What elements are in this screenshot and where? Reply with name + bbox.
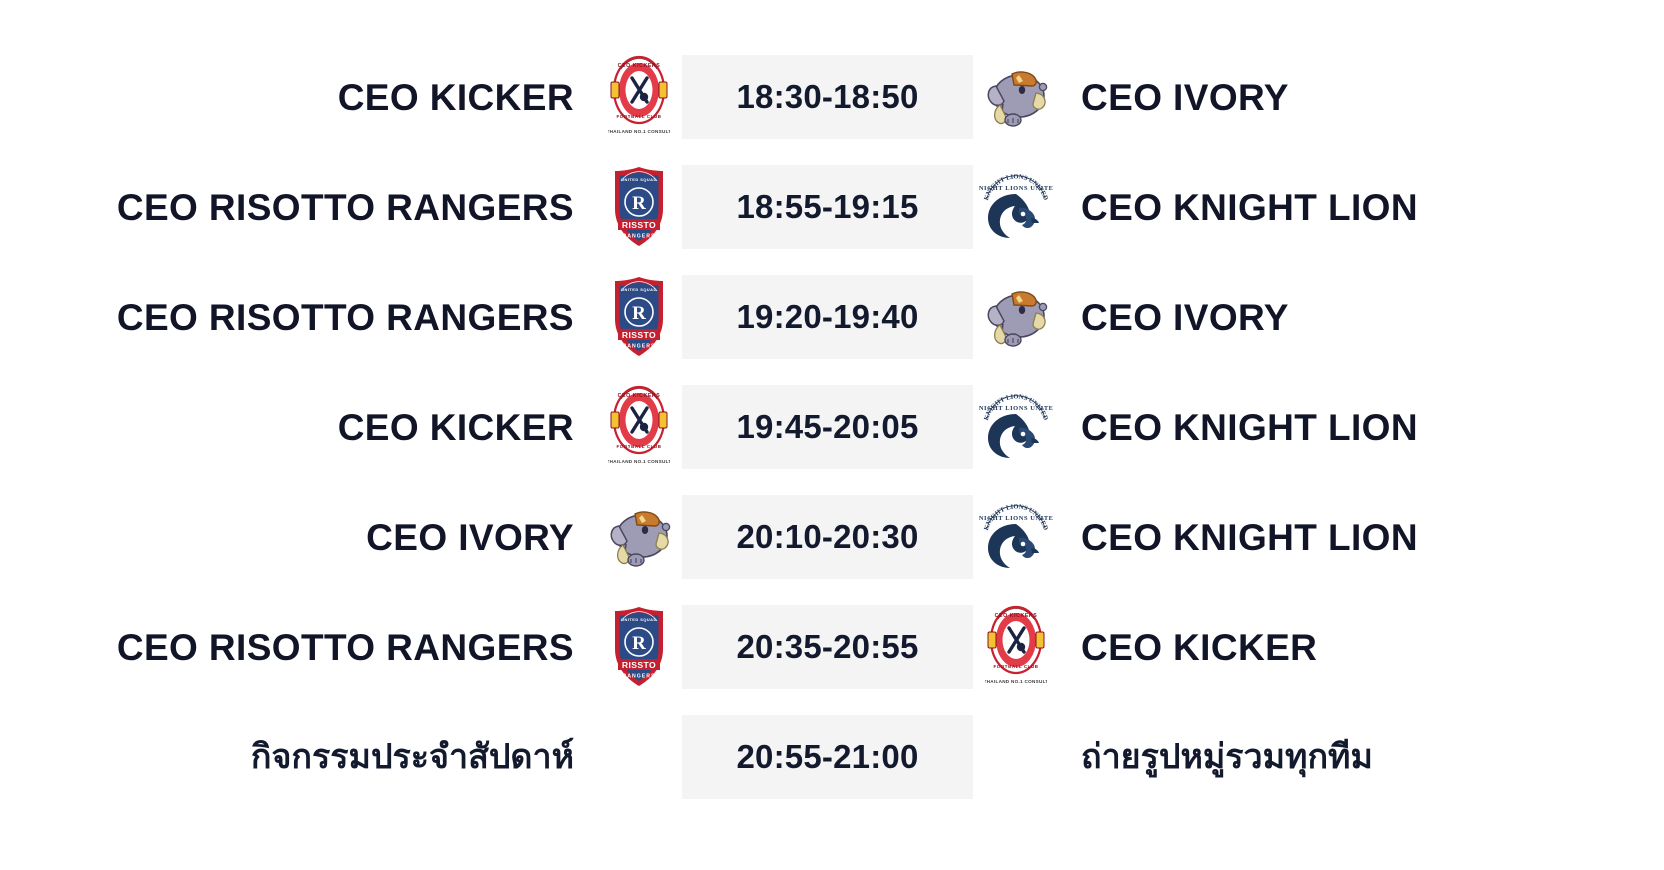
home-team-name: CEO KICKER — [338, 409, 574, 446]
home-team-name: กิจกรรมประจำสัปดาห์ — [251, 737, 574, 778]
away-team-name: ถ่ายรูปหมู่รวมทุกทีม — [1081, 737, 1373, 778]
svg-text:R: R — [632, 633, 646, 654]
svg-text:RANGERS: RANGERS — [623, 234, 656, 240]
away-team-name: CEO IVORY — [1081, 79, 1289, 116]
home-team: CEO RISOTTO RANGERS UNITED SQUAD R RISST… — [0, 161, 682, 253]
away-team-logo — [973, 271, 1059, 363]
svg-text:CEO KICKERS: CEO KICKERS — [618, 393, 661, 399]
svg-text:THAILAND NO.1 CONSULT: THAILAND NO.1 CONSULT — [608, 129, 670, 134]
away-team-logo: CEO KICKERS FOOTBALL CLUB THAILAND NO.1 … — [973, 601, 1059, 693]
ceo-risotto-rangers-shield-icon: UNITED SQUAD R RISSTO RANGERS — [610, 275, 668, 359]
svg-text:UNITED SQUAD: UNITED SQUAD — [621, 177, 657, 182]
svg-text:R: R — [632, 193, 646, 214]
match-row: CEO IVORY 20:10-20:30 KNIGHT LIONS UNITE… — [0, 482, 1664, 592]
match-row: CEO RISOTTO RANGERS UNITED SQUAD R RISST… — [0, 262, 1664, 372]
ceo-knight-lion-circle-icon: KNIGHT LIONS UNITED KNIGHT LIONS UNITED — [979, 500, 1053, 574]
away-team-name: CEO IVORY — [1081, 299, 1289, 336]
match-row: CEO KICKER CEO KICKERS FOOTBALL CLUB THA… — [0, 372, 1664, 482]
match-schedule-board: CEO KICKER CEO KICKERS FOOTBALL CLUB THA… — [0, 0, 1664, 870]
away-team-name: CEO KICKER — [1081, 629, 1317, 666]
ceo-ivory-elephant-mascot-icon — [979, 60, 1053, 134]
home-team-name: CEO RISOTTO RANGERS — [117, 299, 574, 336]
svg-text:THAILAND NO.1 CONSULT: THAILAND NO.1 CONSULT — [985, 679, 1047, 684]
match-time: 18:55-19:15 — [737, 188, 919, 226]
svg-text:FOOTBALL CLUB: FOOTBALL CLUB — [616, 444, 661, 449]
away-team: KNIGHT LIONS UNITED KNIGHT LIONS UNITED … — [973, 491, 1664, 583]
svg-text:RISSTO: RISSTO — [622, 660, 656, 670]
match-time-chip: 20:35-20:55 — [682, 605, 973, 689]
match-time: 19:20-19:40 — [737, 298, 919, 336]
match-time: 20:10-20:30 — [737, 518, 919, 556]
match-time-chip: 20:55-21:00 — [682, 715, 973, 799]
home-team: CEO KICKER CEO KICKERS FOOTBALL CLUB THA… — [0, 51, 682, 143]
ceo-risotto-rangers-shield-icon: UNITED SQUAD R RISSTO RANGERS — [610, 165, 668, 249]
ceo-kicker-crest-icon: CEO KICKERS FOOTBALL CLUB THAILAND NO.1 … — [608, 54, 670, 140]
ceo-kicker-crest-icon: CEO KICKERS FOOTBALL CLUB THAILAND NO.1 … — [608, 384, 670, 470]
ceo-risotto-rangers-shield-icon: UNITED SQUAD R RISSTO RANGERS — [610, 605, 668, 689]
svg-text:THAILAND NO.1 CONSULT: THAILAND NO.1 CONSULT — [608, 459, 670, 464]
home-team-logo: UNITED SQUAD R RISSTO RANGERS — [596, 601, 682, 693]
match-row: CEO KICKER CEO KICKERS FOOTBALL CLUB THA… — [0, 42, 1664, 152]
svg-text:UNITED SQUAD: UNITED SQUAD — [621, 287, 657, 292]
away-team-logo: KNIGHT LIONS UNITED KNIGHT LIONS UNITED — [973, 381, 1059, 473]
ceo-kicker-crest-icon: CEO KICKERS FOOTBALL CLUB THAILAND NO.1 … — [985, 604, 1047, 690]
away-team: CEO IVORY — [973, 51, 1664, 143]
match-time: 20:35-20:55 — [737, 628, 919, 666]
match-time: 19:45-20:05 — [737, 408, 919, 446]
ceo-knight-lion-circle-icon: KNIGHT LIONS UNITED KNIGHT LIONS UNITED — [979, 170, 1053, 244]
match-time-chip: 18:30-18:50 — [682, 55, 973, 139]
svg-text:FOOTBALL CLUB: FOOTBALL CLUB — [993, 664, 1038, 669]
svg-text:RISSTO: RISSTO — [622, 220, 656, 230]
svg-text:FOOTBALL CLUB: FOOTBALL CLUB — [616, 114, 661, 119]
away-team-logo — [973, 51, 1059, 143]
away-team: ถ่ายรูปหมู่รวมทุกทีม — [973, 737, 1664, 778]
away-team: KNIGHT LIONS UNITED KNIGHT LIONS UNITED … — [973, 161, 1664, 253]
away-team-name: CEO KNIGHT LION — [1081, 519, 1418, 556]
match-row: CEO RISOTTO RANGERS UNITED SQUAD R RISST… — [0, 592, 1664, 702]
away-team-name: CEO KNIGHT LION — [1081, 189, 1418, 226]
away-team: CEO KICKERS FOOTBALL CLUB THAILAND NO.1 … — [973, 601, 1664, 693]
home-team-name: CEO KICKER — [338, 79, 574, 116]
home-team: กิจกรรมประจำสัปดาห์ — [0, 737, 682, 778]
home-team-logo: CEO KICKERS FOOTBALL CLUB THAILAND NO.1 … — [596, 51, 682, 143]
svg-text:CEO KICKERS: CEO KICKERS — [995, 613, 1038, 619]
svg-text:RANGERS: RANGERS — [623, 674, 656, 680]
svg-text:R: R — [632, 303, 646, 324]
ceo-ivory-elephant-mascot-icon — [979, 280, 1053, 354]
match-time-chip: 19:45-20:05 — [682, 385, 973, 469]
svg-text:KNIGHT LIONS UNITED: KNIGHT LIONS UNITED — [979, 405, 1053, 412]
svg-text:KNIGHT LIONS UNITED: KNIGHT LIONS UNITED — [979, 515, 1053, 522]
home-team-logo: CEO KICKERS FOOTBALL CLUB THAILAND NO.1 … — [596, 381, 682, 473]
home-team-logo: UNITED SQUAD R RISSTO RANGERS — [596, 271, 682, 363]
activity-row: กิจกรรมประจำสัปดาห์ 20:55-21:00 ถ่ายรูปห… — [0, 702, 1664, 812]
home-team-logo: UNITED SQUAD R RISSTO RANGERS — [596, 161, 682, 253]
home-team: CEO RISOTTO RANGERS UNITED SQUAD R RISST… — [0, 601, 682, 693]
match-row: CEO RISOTTO RANGERS UNITED SQUAD R RISST… — [0, 152, 1664, 262]
svg-text:RANGERS: RANGERS — [623, 344, 656, 350]
match-time-chip: 18:55-19:15 — [682, 165, 973, 249]
home-team-name: CEO IVORY — [366, 519, 574, 556]
match-time-chip: 20:10-20:30 — [682, 495, 973, 579]
match-time: 20:55-21:00 — [737, 738, 919, 776]
ceo-ivory-elephant-mascot-icon — [602, 500, 676, 574]
away-team: KNIGHT LIONS UNITED KNIGHT LIONS UNITED … — [973, 381, 1664, 473]
away-team-logo: KNIGHT LIONS UNITED KNIGHT LIONS UNITED — [973, 161, 1059, 253]
svg-text:KNIGHT LIONS UNITED: KNIGHT LIONS UNITED — [979, 185, 1053, 192]
home-team-name: CEO RISOTTO RANGERS — [117, 629, 574, 666]
away-team: CEO IVORY — [973, 271, 1664, 363]
svg-text:CEO KICKERS: CEO KICKERS — [618, 63, 661, 69]
home-team-name: CEO RISOTTO RANGERS — [117, 189, 574, 226]
home-team-logo — [596, 491, 682, 583]
svg-text:UNITED SQUAD: UNITED SQUAD — [621, 617, 657, 622]
ceo-knight-lion-circle-icon: KNIGHT LIONS UNITED KNIGHT LIONS UNITED — [979, 390, 1053, 464]
home-team: CEO RISOTTO RANGERS UNITED SQUAD R RISST… — [0, 271, 682, 363]
match-time: 18:30-18:50 — [737, 78, 919, 116]
home-team: CEO IVORY — [0, 491, 682, 583]
away-team-logo: KNIGHT LIONS UNITED KNIGHT LIONS UNITED — [973, 491, 1059, 583]
away-team-name: CEO KNIGHT LION — [1081, 409, 1418, 446]
match-time-chip: 19:20-19:40 — [682, 275, 973, 359]
svg-text:RISSTO: RISSTO — [622, 330, 656, 340]
home-team: CEO KICKER CEO KICKERS FOOTBALL CLUB THA… — [0, 381, 682, 473]
